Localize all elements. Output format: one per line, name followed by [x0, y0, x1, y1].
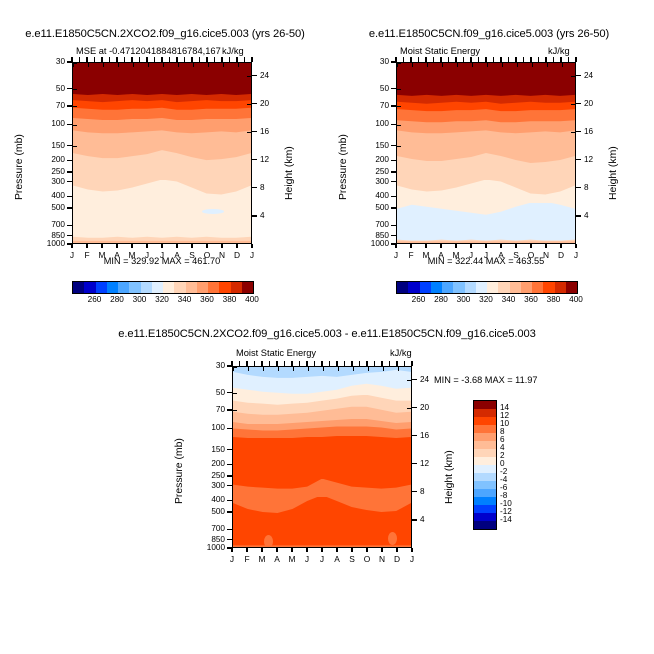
yaxis-right-title-top-left: Height (km) — [284, 146, 295, 200]
month-label: J — [299, 554, 315, 564]
xtick-top-mark — [440, 57, 441, 62]
colorbar-swatch — [543, 282, 554, 293]
xtick-mark — [351, 548, 352, 552]
colorbar-swatch — [474, 497, 496, 505]
colorbar-label: 400 — [238, 295, 266, 304]
xtick-mark — [575, 244, 576, 248]
yaxis-title-bottom-diff: Pressure (mb) — [174, 438, 185, 504]
xtick-top-mark — [530, 57, 531, 62]
xtick-mark — [236, 244, 237, 248]
xtick-top-mark — [169, 57, 170, 62]
xtick-mark — [545, 244, 546, 248]
ytick-right-mark — [252, 75, 257, 76]
panel-subtitle-right-top-right: kJ/kg — [548, 46, 570, 56]
ytick-label: 50 — [32, 84, 65, 93]
xtick-top-mark — [374, 361, 375, 366]
diff-anomaly-blob — [264, 535, 273, 547]
xtick-top-mark — [500, 57, 501, 62]
ytick-label: 200 — [192, 459, 225, 468]
ytick-right-mark — [412, 379, 417, 380]
ytick-mark — [67, 105, 72, 106]
colorbar-swatch — [532, 282, 543, 293]
ytick-mark — [227, 485, 232, 486]
xtick-top-mark — [79, 57, 80, 62]
xtick-top-mark — [276, 361, 277, 366]
xtick-mark — [411, 548, 412, 552]
ytick-mark — [391, 235, 396, 236]
month-label: D — [229, 250, 245, 260]
ytick-right-mark — [576, 131, 581, 132]
colorbar-swatch — [474, 441, 496, 449]
colorbar-swatch — [474, 409, 496, 417]
xtick-top-mark — [321, 361, 322, 366]
ytick-mark — [67, 196, 72, 197]
month-label: J — [568, 250, 584, 260]
xtick-top-mark — [244, 57, 245, 62]
colorbar-swatch — [84, 282, 95, 293]
ytick-right-label: 4 — [420, 515, 425, 524]
xtick-top-mark — [101, 57, 102, 62]
xtick-top-mark — [131, 57, 132, 62]
ytick-label: 300 — [192, 481, 225, 490]
ytick-right-mark — [412, 519, 417, 520]
colorbar-swatch — [231, 282, 242, 293]
colorbar-swatch — [96, 282, 107, 293]
ytick-label: 400 — [192, 495, 225, 504]
ytick-mark — [67, 124, 72, 125]
colorbar-swatch — [129, 282, 140, 293]
ytick-right-mark — [412, 463, 417, 464]
ytick-right-mark — [412, 435, 417, 436]
xtick-top-mark — [485, 57, 486, 62]
colorbar-swatch — [141, 282, 152, 293]
colorbar-swatch — [431, 282, 442, 293]
xtick-top-mark — [239, 361, 240, 366]
xtick-top-mark — [154, 57, 155, 62]
ytick-mark — [391, 225, 396, 226]
ytick-label: 100 — [192, 423, 225, 432]
xtick-mark — [560, 244, 561, 248]
ytick-right-label: 16 — [420, 431, 429, 440]
xtick-mark — [485, 244, 486, 248]
ytick-right-mark — [252, 159, 257, 160]
xtick-mark — [396, 548, 397, 552]
ytick-right-label: 8 — [260, 183, 265, 192]
ytick-label: 150 — [356, 141, 389, 150]
colorbar-swatch — [118, 282, 129, 293]
ytick-label: 700 — [32, 220, 65, 229]
xtick-top-mark — [94, 57, 95, 62]
yaxis-right-title-top-right: Height (km) — [608, 146, 619, 200]
ytick-mark — [67, 225, 72, 226]
xtick-mark — [425, 244, 426, 248]
ytick-right-mark — [412, 407, 417, 408]
ytick-label: 50 — [356, 84, 389, 93]
xtick-mark — [306, 548, 307, 552]
minmax-bottom-diff: MIN = -3.68 MAX = 11.97 — [434, 375, 614, 385]
month-label: F — [403, 250, 419, 260]
colorbar-swatch — [197, 282, 208, 293]
plot-area-top-left — [72, 62, 252, 244]
xtick-top-mark — [184, 57, 185, 62]
month-label: J — [224, 554, 240, 564]
colorbar-swatch — [152, 282, 163, 293]
ytick-label: 200 — [32, 155, 65, 164]
ytick-mark — [391, 196, 396, 197]
xtick-top-mark — [568, 57, 569, 62]
colorbar-label: -14 — [500, 515, 512, 524]
ytick-mark — [67, 207, 72, 208]
colorbar-bottom-diff — [473, 400, 497, 530]
xtick-mark — [116, 244, 117, 248]
month-label: A — [329, 554, 345, 564]
xtick-top-mark — [306, 361, 307, 366]
ytick-right-label: 12 — [420, 459, 429, 468]
xtick-mark — [131, 244, 132, 248]
plot-area-top-right — [396, 62, 576, 244]
xtick-top-mark — [538, 57, 539, 62]
ytick-label: 500 — [192, 507, 225, 516]
xtick-top-mark — [389, 361, 390, 366]
xtick-mark — [86, 244, 87, 248]
xtick-top-mark — [261, 361, 262, 366]
colorbar-swatch — [453, 282, 464, 293]
colorbar-swatch — [242, 282, 253, 293]
xtick-mark — [161, 244, 162, 248]
xtick-top-mark — [493, 57, 494, 62]
contour-fill-top-left — [73, 63, 251, 243]
xtick-top-mark — [229, 57, 230, 62]
xtick-top-mark — [478, 57, 479, 62]
month-label: J — [388, 250, 404, 260]
ytick-mark — [227, 392, 232, 393]
ytick-right-label: 4 — [260, 211, 265, 220]
month-label: F — [239, 554, 255, 564]
xtick-top-mark — [176, 57, 177, 62]
cool-anomaly-lens — [202, 209, 223, 214]
colorbar-swatch — [474, 473, 496, 481]
xtick-top-mark — [236, 57, 237, 62]
yaxis-title-top-left: Pressure (mb) — [14, 134, 25, 200]
ytick-mark — [391, 171, 396, 172]
panel-title-bottom-diff: e.e11.E1850C5CN.2XCO2.f09_g16.cice5.003 … — [72, 328, 582, 340]
xtick-top-mark — [86, 57, 87, 62]
month-label: M — [418, 250, 434, 260]
xtick-top-mark — [221, 57, 222, 62]
ytick-label: 30 — [32, 57, 65, 66]
xtick-mark — [455, 244, 456, 248]
colorbar-swatch — [474, 401, 496, 409]
month-label: N — [538, 250, 554, 260]
colorbar-swatch — [397, 282, 408, 293]
xtick-top-mark — [448, 57, 449, 62]
ytick-label: 400 — [32, 191, 65, 200]
ytick-right-mark — [576, 103, 581, 104]
plot-area-bottom-diff — [232, 366, 412, 548]
ytick-mark — [67, 88, 72, 89]
xtick-top-mark — [146, 57, 147, 62]
colorbar-top-right — [396, 281, 578, 294]
xtick-top-mark — [231, 361, 232, 366]
ytick-mark — [391, 145, 396, 146]
xtick-top-mark — [124, 57, 125, 62]
ytick-right-label: 8 — [584, 183, 589, 192]
xtick-top-mark — [139, 57, 140, 62]
contour-fill-top-right — [397, 63, 575, 243]
month-label: J — [244, 250, 260, 260]
colorbar-swatch — [442, 282, 453, 293]
ytick-label: 50 — [192, 388, 225, 397]
xtick-top-mark — [418, 57, 419, 62]
ytick-right-mark — [576, 159, 581, 160]
colorbar-swatch — [186, 282, 197, 293]
month-label: N — [214, 250, 230, 260]
ytick-label: 400 — [356, 191, 389, 200]
xtick-mark — [191, 244, 192, 248]
colorbar-swatch — [465, 282, 476, 293]
ytick-mark — [67, 145, 72, 146]
ytick-mark — [227, 409, 232, 410]
xtick-top-mark — [161, 57, 162, 62]
colorbar-swatch — [474, 457, 496, 465]
colorbar-swatch — [73, 282, 84, 293]
ytick-mark — [391, 160, 396, 161]
month-label: M — [94, 250, 110, 260]
panel-title-top-right: e.e11.E1850C5CN.f09_g16.cice5.003 (yrs 2… — [324, 28, 654, 40]
xtick-mark — [291, 548, 292, 552]
ytick-label: 500 — [356, 203, 389, 212]
panel-subtitle-right-top-left: kJ/kg — [222, 46, 244, 56]
colorbar-swatch — [163, 282, 174, 293]
panel-subtitle-left-bottom-diff: Moist Static Energy — [236, 348, 316, 358]
xtick-top-mark — [116, 57, 117, 62]
month-label: J — [463, 250, 479, 260]
xtick-top-mark — [463, 57, 464, 62]
ytick-mark — [227, 475, 232, 476]
colorbar-swatch — [474, 425, 496, 433]
ytick-label: 70 — [192, 405, 225, 414]
xtick-mark — [395, 244, 396, 248]
ytick-right-mark — [576, 187, 581, 188]
contour-fill-bottom-diff — [233, 367, 411, 547]
xtick-top-mark — [381, 361, 382, 366]
xtick-top-mark — [351, 361, 352, 366]
colorbar-swatch — [521, 282, 532, 293]
xtick-mark — [146, 244, 147, 248]
colorbar-swatch — [555, 282, 566, 293]
month-label: J — [139, 250, 155, 260]
xtick-mark — [470, 244, 471, 248]
month-label: A — [433, 250, 449, 260]
xtick-mark — [410, 244, 411, 248]
month-label: D — [553, 250, 569, 260]
colorbar-swatch — [510, 282, 521, 293]
ytick-label: 250 — [192, 471, 225, 480]
colorbar-swatch — [219, 282, 230, 293]
xtick-top-mark — [425, 57, 426, 62]
xtick-top-mark — [470, 57, 471, 62]
xtick-top-mark — [254, 361, 255, 366]
ytick-right-label: 4 — [584, 211, 589, 220]
ytick-label: 1000 — [32, 239, 65, 248]
colorbar-swatch — [474, 513, 496, 521]
ytick-right-label: 20 — [584, 99, 593, 108]
ytick-right-label: 24 — [584, 71, 593, 80]
ytick-right-label: 12 — [584, 155, 593, 164]
ytick-right-label: 12 — [260, 155, 269, 164]
month-label: O — [523, 250, 539, 260]
ytick-right-mark — [252, 215, 257, 216]
month-label: J — [154, 250, 170, 260]
xtick-mark — [221, 244, 222, 248]
xtick-mark — [321, 548, 322, 552]
month-label: J — [314, 554, 330, 564]
ytick-label: 250 — [32, 167, 65, 176]
month-label: J — [478, 250, 494, 260]
month-label: S — [184, 250, 200, 260]
ytick-label: 200 — [356, 155, 389, 164]
colorbar-swatch — [476, 282, 487, 293]
colorbar-swatch — [474, 489, 496, 497]
xtick-top-mark — [336, 361, 337, 366]
ytick-right-label: 8 — [420, 487, 425, 496]
ytick-right-label: 20 — [260, 99, 269, 108]
ytick-right-mark — [252, 187, 257, 188]
ytick-mark — [227, 511, 232, 512]
month-label: D — [389, 554, 405, 564]
ytick-mark — [67, 235, 72, 236]
ytick-mark — [391, 181, 396, 182]
ytick-mark — [227, 500, 232, 501]
xtick-mark — [231, 548, 232, 552]
xtick-mark — [440, 244, 441, 248]
xtick-top-mark — [366, 361, 367, 366]
month-label: S — [344, 554, 360, 564]
ytick-right-mark — [576, 75, 581, 76]
xtick-top-mark — [71, 57, 72, 62]
month-label: M — [124, 250, 140, 260]
xtick-top-mark — [515, 57, 516, 62]
xtick-mark — [530, 244, 531, 248]
xtick-top-mark — [344, 361, 345, 366]
xtick-top-mark — [291, 361, 292, 366]
xtick-top-mark — [523, 57, 524, 62]
colorbar-swatch — [174, 282, 185, 293]
xtick-mark — [246, 548, 247, 552]
xtick-top-mark — [395, 57, 396, 62]
colorbar-swatch — [474, 433, 496, 441]
colorbar-swatch — [408, 282, 419, 293]
month-label: M — [254, 554, 270, 564]
xtick-top-mark — [206, 57, 207, 62]
xtick-mark — [366, 548, 367, 552]
ytick-mark — [227, 464, 232, 465]
xtick-top-mark — [199, 57, 200, 62]
ytick-right-label: 16 — [584, 127, 593, 136]
colorbar-swatch — [474, 465, 496, 473]
month-label: A — [169, 250, 185, 260]
xtick-top-mark — [410, 57, 411, 62]
ytick-right-label: 24 — [260, 71, 269, 80]
xtick-top-mark — [191, 57, 192, 62]
xtick-top-mark — [284, 361, 285, 366]
month-label: M — [448, 250, 464, 260]
xtick-mark — [336, 548, 337, 552]
xtick-top-mark — [359, 361, 360, 366]
xtick-mark — [500, 244, 501, 248]
ytick-right-label: 16 — [260, 127, 269, 136]
xtick-mark — [251, 244, 252, 248]
xtick-mark — [276, 548, 277, 552]
ytick-right-mark — [252, 131, 257, 132]
month-label: J — [64, 250, 80, 260]
xtick-mark — [261, 548, 262, 552]
colorbar-swatch — [474, 417, 496, 425]
xtick-top-mark — [545, 57, 546, 62]
month-label: A — [493, 250, 509, 260]
ytick-mark — [227, 428, 232, 429]
xtick-top-mark — [251, 57, 252, 62]
xtick-mark — [515, 244, 516, 248]
panel-subtitle-left-top-left: MSE at -0.4712041884816784,167 — [76, 46, 221, 56]
xtick-mark — [381, 548, 382, 552]
xtick-top-mark — [314, 361, 315, 366]
ytick-right-mark — [576, 215, 581, 216]
ytick-label: 30 — [356, 57, 389, 66]
month-label: J — [404, 554, 420, 564]
colorbar-swatch — [107, 282, 118, 293]
month-label: O — [359, 554, 375, 564]
ytick-label: 70 — [356, 101, 389, 110]
month-label: F — [79, 250, 95, 260]
colorbar-swatch — [498, 282, 509, 293]
xtick-top-mark — [329, 361, 330, 366]
ytick-label: 150 — [192, 445, 225, 454]
panel-subtitle-left-top-right: Moist Static Energy — [400, 46, 480, 56]
xtick-top-mark — [246, 361, 247, 366]
month-label: S — [508, 250, 524, 260]
colorbar-swatch — [566, 282, 577, 293]
xtick-top-mark — [433, 57, 434, 62]
colorbar-top-left — [72, 281, 254, 294]
ytick-right-label: 20 — [420, 403, 429, 412]
ytick-label: 700 — [356, 220, 389, 229]
colorbar-swatch — [474, 505, 496, 513]
xtick-top-mark — [411, 361, 412, 366]
ytick-label: 250 — [356, 167, 389, 176]
ytick-right-mark — [252, 103, 257, 104]
ytick-label: 1000 — [192, 543, 225, 552]
ytick-right-label: 24 — [420, 375, 429, 384]
ytick-mark — [391, 124, 396, 125]
xtick-top-mark — [269, 361, 270, 366]
xtick-top-mark — [396, 361, 397, 366]
ytick-label: 1000 — [356, 239, 389, 248]
yaxis-right-title-bottom-diff: Height (km) — [444, 450, 455, 504]
month-label: N — [374, 554, 390, 564]
colorbar-swatch — [474, 481, 496, 489]
ytick-mark — [391, 88, 396, 89]
xtick-top-mark — [404, 361, 405, 366]
month-label: O — [199, 250, 215, 260]
ytick-label: 30 — [192, 361, 225, 370]
xtick-mark — [71, 244, 72, 248]
colorbar-swatch — [208, 282, 219, 293]
ytick-label: 300 — [32, 177, 65, 186]
xtick-mark — [101, 244, 102, 248]
colorbar-swatch — [487, 282, 498, 293]
ytick-label: 500 — [32, 203, 65, 212]
